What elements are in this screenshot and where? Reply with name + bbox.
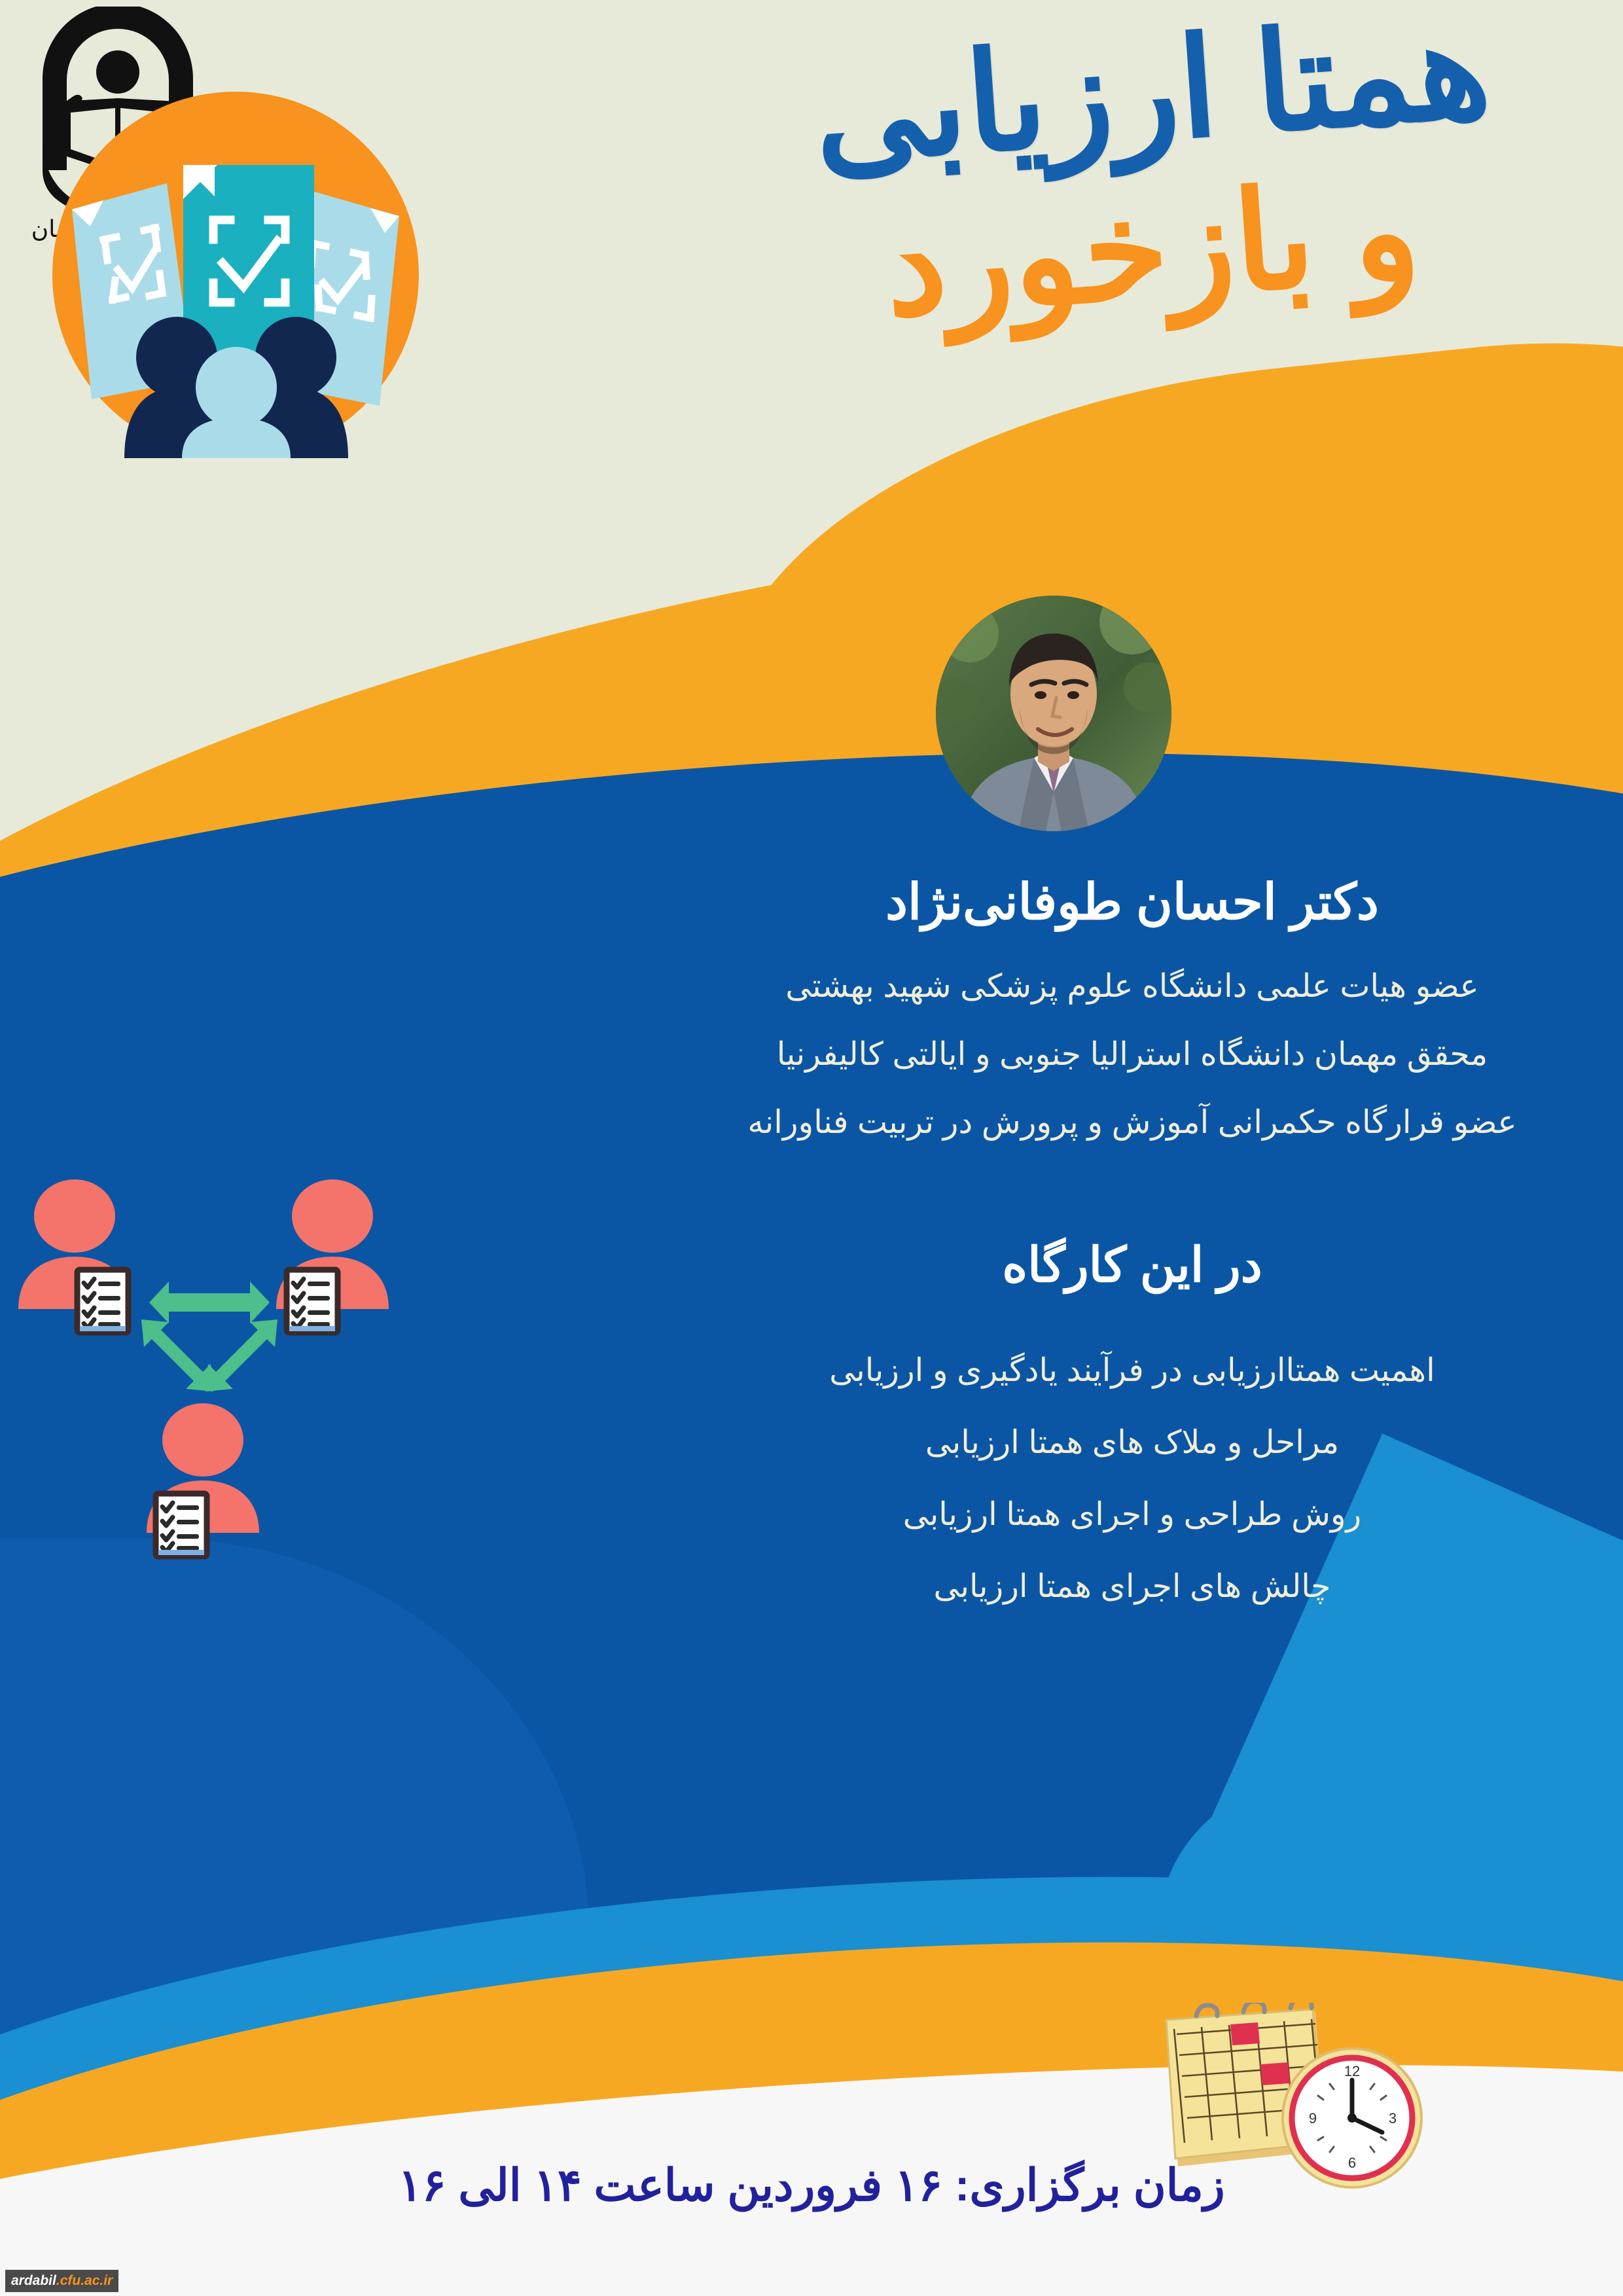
speaker-name: دکتر احسان طوفانی‌نژاد	[690, 870, 1574, 935]
watermark-name: ardabil	[11, 2273, 56, 2288]
person-icon-bottom-center	[147, 1403, 259, 1556]
svg-text:3: 3	[1389, 2110, 1397, 2126]
speaker-credentials: عضو هیات علمی دانشگاه علوم پزشکی شهید به…	[690, 952, 1574, 1157]
svg-text:12: 12	[1344, 2063, 1360, 2079]
peer-assessment-diagram	[7, 1165, 412, 1571]
person-icon-top-left	[18, 1179, 131, 1333]
list-item: مراحل و ملاک های همتا ارزیابی	[690, 1407, 1574, 1479]
list-item: روش طراحی و اجرای همتا ارزیابی	[690, 1479, 1574, 1551]
list-item: چالش های اجرای همتا ارزیابی	[690, 1551, 1574, 1623]
green-arrow-icon	[141, 1282, 277, 1391]
site-watermark: ardabil.cfu.ac.ir	[5, 2270, 118, 2292]
poster-title: همتا ارزیابی و بازخورد	[726, 20, 1577, 321]
svg-text:9: 9	[1309, 2110, 1317, 2126]
workshop-heading: در این کارگاه	[690, 1237, 1574, 1293]
poster-canvas: دانشگاه فرهنگیان همتا ارزیابی و بازخورد	[0, 0, 1623, 2296]
credential-line: محقق مهمان دانشگاه استرالیا جنوبی و ایال…	[690, 1020, 1574, 1088]
speaker-photo	[936, 596, 1171, 831]
credential-line: عضو هیات علمی دانشگاه علوم پزشکی شهید به…	[690, 952, 1574, 1020]
list-item: اهمیت همتاارزیابی در فرآیند یادگیری و ار…	[690, 1335, 1574, 1407]
peer-review-illustration	[52, 92, 419, 458]
watermark-domain: .cfu.ac.ir	[56, 2273, 113, 2288]
workshop-topics-list: اهمیت همتاارزیابی در فرآیند یادگیری و ار…	[690, 1335, 1574, 1623]
event-datetime: زمان برگزاری: ۱۶ فروردین ساعت ۱۴ الی ۱۶	[0, 2160, 1623, 2212]
person-icon-top-right	[276, 1179, 389, 1333]
credential-line: عضو قرارگاه حکمرانی آموزش و پرورش در ترب…	[690, 1088, 1574, 1157]
